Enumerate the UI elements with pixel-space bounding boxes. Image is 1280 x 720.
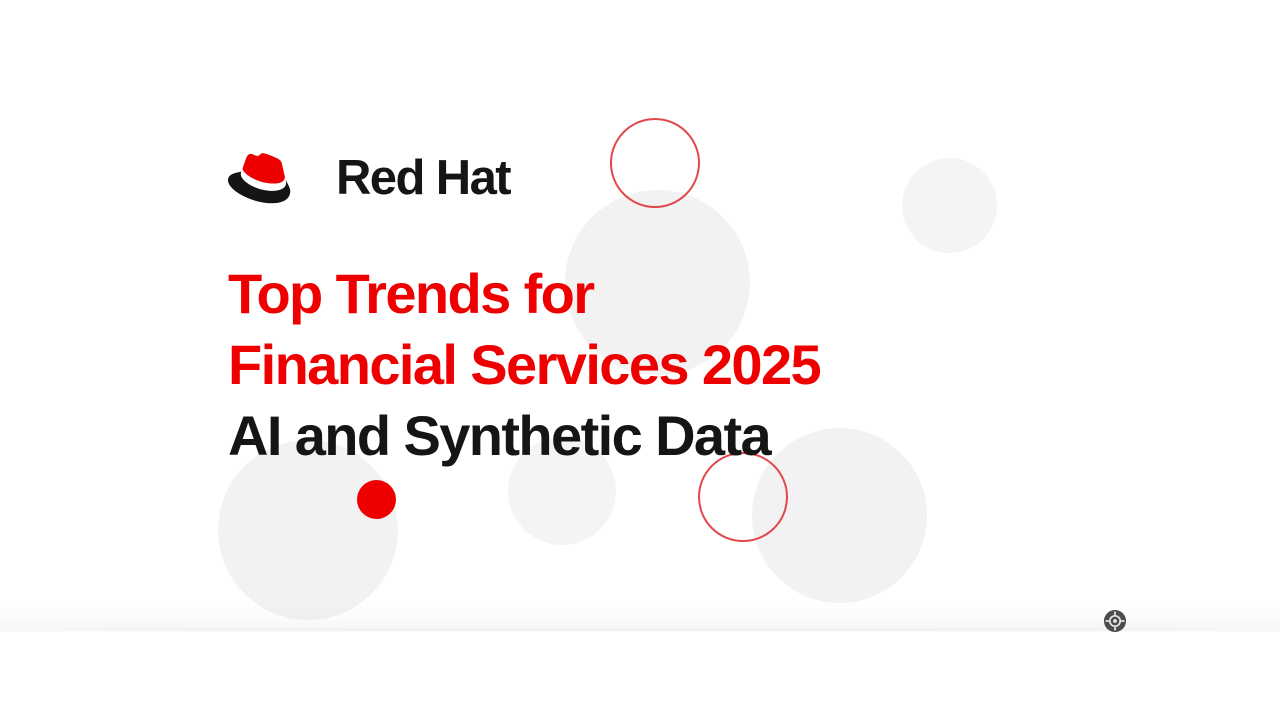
red-hat-wordmark: Red Hat [336,154,510,203]
red-hat-logo: Red Hat [228,140,1128,216]
video-player-badge-icon[interactable] [1104,610,1126,632]
headline-line-2: Financial Services 2025 [228,329,1128,400]
red-dot-decoration [357,480,396,519]
slide-canvas: Red Hat Top Trends for Financial Service… [0,0,1280,632]
red-hat-fedora-icon [228,147,314,209]
slide-bottom-shadow [0,600,1280,632]
headline-line-3: AI and Synthetic Data [228,400,1128,471]
headline-line-1: Top Trends for [228,258,1128,329]
slide-content: Red Hat Top Trends for Financial Service… [228,140,1128,471]
slide-headline: Top Trends for Financial Services 2025 A… [228,258,1128,471]
